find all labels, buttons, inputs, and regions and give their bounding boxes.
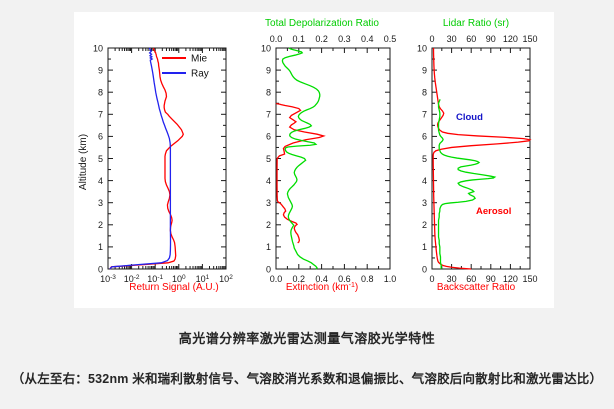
- backscatter-chart: 01234567891003060901201500306090120150 L…: [414, 12, 554, 308]
- svg-text:3: 3: [98, 198, 103, 208]
- svg-text:0.4: 0.4: [361, 34, 374, 44]
- annotation-aerosol: Aerosol: [476, 206, 511, 217]
- svg-text:9: 9: [422, 65, 427, 75]
- svg-text:8: 8: [98, 88, 103, 98]
- legend-mie-ray: MieRay: [162, 54, 209, 80]
- svg-text:5: 5: [266, 154, 271, 164]
- svg-text:0.5: 0.5: [384, 34, 397, 44]
- svg-text:2: 2: [266, 220, 271, 230]
- series-total-depolarization-ratio: [282, 48, 319, 269]
- svg-text:6: 6: [98, 132, 103, 142]
- panel-backscatter-lidar-ratio: 01234567891003060901201500306090120150 L…: [414, 12, 554, 308]
- svg-text:3: 3: [422, 198, 427, 208]
- svg-text:6: 6: [422, 132, 427, 142]
- x-axis-label-extinction: Extinction (km-1): [286, 282, 358, 293]
- svg-text:0.1: 0.1: [293, 34, 306, 44]
- legend-label-ray: Ray: [191, 69, 209, 80]
- svg-text:7: 7: [422, 110, 427, 120]
- panel-extinction-depolarization: 0123456789100.00.20.40.60.81.00.00.10.20…: [254, 12, 414, 308]
- svg-text:5: 5: [422, 154, 427, 164]
- svg-text:60: 60: [466, 34, 476, 44]
- svg-text:8: 8: [266, 88, 271, 98]
- caption-title: 高光谱分辨率激光雷达测量气溶胶光学特性: [0, 328, 614, 347]
- y-axis-label: Altitude (km): [78, 134, 89, 190]
- svg-text:0.3: 0.3: [338, 34, 351, 44]
- series-backscatter-ratio: [433, 48, 530, 269]
- svg-text:0: 0: [98, 264, 103, 274]
- svg-text:10: 10: [261, 43, 271, 53]
- svg-text:1: 1: [266, 242, 271, 252]
- svg-text:4: 4: [98, 176, 103, 186]
- svg-text:0.2: 0.2: [315, 34, 328, 44]
- svg-text:6: 6: [266, 132, 271, 142]
- svg-text:30: 30: [447, 34, 457, 44]
- svg-text:1: 1: [98, 242, 103, 252]
- figure-canvas: 01234567891010-310-210-1100101102 Altitu…: [74, 12, 554, 308]
- svg-text:5: 5: [98, 154, 103, 164]
- svg-text:7: 7: [98, 110, 103, 120]
- svg-text:0: 0: [422, 264, 427, 274]
- svg-text:4: 4: [422, 176, 427, 186]
- svg-text:10-3: 10-3: [100, 274, 116, 284]
- svg-text:2: 2: [422, 220, 427, 230]
- top-axis-title-depolarization: Total Depolarization Ratio: [265, 18, 379, 29]
- svg-text:90: 90: [486, 34, 496, 44]
- annotation-cloud: Cloud: [456, 112, 483, 123]
- x-axis-label-return-signal: Return Signal (A.U.): [129, 282, 218, 293]
- svg-text:0.0: 0.0: [270, 34, 283, 44]
- svg-text:0.0: 0.0: [270, 274, 283, 284]
- return-signal-chart: 01234567891010-310-210-1100101102 Altitu…: [74, 12, 254, 308]
- svg-text:10: 10: [93, 43, 103, 53]
- svg-text:0: 0: [429, 34, 434, 44]
- x-axis-label-extinction-text: Extinction (km: [286, 282, 349, 293]
- svg-text:7: 7: [266, 110, 271, 120]
- svg-text:4: 4: [266, 176, 271, 186]
- svg-text:8: 8: [422, 88, 427, 98]
- series-mie: [110, 48, 183, 269]
- svg-text:0: 0: [429, 274, 434, 284]
- svg-text:3: 3: [266, 198, 271, 208]
- svg-text:120: 120: [503, 34, 518, 44]
- caption-subtitle: （从左至右：532nm 米和瑞利散射信号、气溶胶消光系数和退偏振比、气溶胶后向散…: [0, 368, 614, 387]
- series-lidar-ratio: [439, 99, 495, 269]
- svg-text:9: 9: [98, 65, 103, 75]
- svg-text:1.0: 1.0: [384, 274, 397, 284]
- x-axis-label-backscatter: Backscatter Ratio: [437, 282, 516, 293]
- svg-text:10: 10: [417, 43, 427, 53]
- top-axis-title-lidar-ratio: Lidar Ratio (sr): [443, 18, 509, 29]
- svg-text:0: 0: [266, 264, 271, 274]
- svg-text:2: 2: [98, 220, 103, 230]
- svg-text:1: 1: [422, 242, 427, 252]
- svg-text:150: 150: [522, 274, 537, 284]
- extinction-chart: 0123456789100.00.20.40.60.81.00.00.10.20…: [254, 12, 414, 308]
- series-extinction: [276, 103, 323, 243]
- svg-text:0.8: 0.8: [361, 274, 374, 284]
- legend-label-mie: Mie: [191, 54, 208, 65]
- svg-text:102: 102: [219, 274, 233, 284]
- svg-text:9: 9: [266, 65, 271, 75]
- panel-return-signal: 01234567891010-310-210-1100101102 Altitu…: [74, 12, 254, 308]
- svg-text:150: 150: [522, 34, 537, 44]
